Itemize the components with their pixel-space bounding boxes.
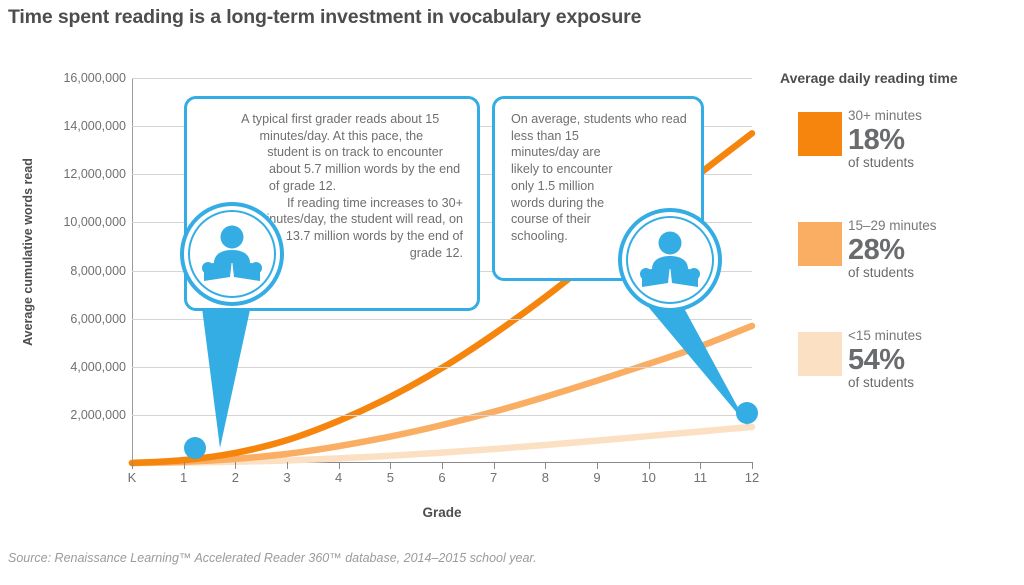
callout-icon-badge-1 [180,202,284,306]
x-axis-tick-label: 4 [319,470,359,485]
legend-title: Average daily reading time [780,70,1020,86]
legend-item-percent: 54% [848,345,1020,375]
legend-item-sublabel: of students [848,375,1020,391]
reading-person-icon [200,225,264,283]
y-axis-tick-label: 16,000,000 [30,71,126,85]
y-axis-tick-label: 2,000,000 [30,408,126,422]
y-axis-tick-label: 8,000,000 [30,264,126,278]
y-axis-tick-label: 4,000,000 [30,360,126,374]
x-axis-tick [494,462,495,469]
legend-item[interactable]: 15–29 minutes28%of students [780,218,1020,328]
data-marker-grade-1 [184,437,206,459]
x-axis-tick-label: 3 [267,470,307,485]
page-title: Time spent reading is a long-term invest… [8,6,888,29]
x-axis-tick [752,462,753,469]
legend-color-swatch [798,222,842,266]
legend-items: 30+ minutes18%of students15–29 minutes28… [780,108,1020,438]
x-axis-tick [184,462,185,469]
x-axis-tick-label: 12 [732,470,772,485]
x-axis-tick-label: 9 [577,470,617,485]
x-axis-tick-label: 6 [422,470,462,485]
x-axis-title: Grade [292,505,592,520]
x-axis-tick [339,462,340,469]
legend-color-swatch [798,332,842,376]
y-axis-title: Average cumulative words read [21,102,35,402]
x-axis-tick [132,462,133,469]
x-axis-tick-label: 1 [164,470,204,485]
x-axis-tick [287,462,288,469]
legend-text-group: 15–29 minutes28%of students [848,218,1020,282]
legend-item-sublabel: of students [848,265,1020,281]
y-axis-tick-label: 6,000,000 [30,312,126,326]
callout-icon-badge-2 [618,208,722,312]
legend-item-label: 30+ minutes [848,108,1020,125]
x-axis-tick [597,462,598,469]
legend-item[interactable]: 30+ minutes18%of students [780,108,1020,218]
x-axis-tick-label: K [112,470,152,485]
gridline [132,78,752,79]
legend-item[interactable]: <15 minutes54%of students [780,328,1020,438]
legend-item-percent: 28% [848,235,1020,265]
source-note: Source: Renaissance Learning™ Accelerate… [8,551,908,565]
legend-text-group: 30+ minutes18%of students [848,108,1020,172]
x-axis-tick [235,462,236,469]
legend-item-label: 15–29 minutes [848,218,1020,235]
legend: Average daily reading time 30+ minutes18… [780,70,1020,438]
x-axis-tick-label: 2 [215,470,255,485]
y-axis-tick-label: 14,000,000 [30,119,126,133]
reading-person-icon [638,231,702,289]
x-axis-tick [545,462,546,469]
legend-item-sublabel: of students [848,155,1020,171]
y-axis-tick-label: 10,000,000 [30,215,126,229]
x-axis-tick [649,462,650,469]
x-axis-tick-label: 7 [474,470,514,485]
x-axis-tick-label: 8 [525,470,565,485]
y-axis-tick-labels: 2,000,0004,000,0006,000,0008,000,00010,0… [26,78,126,463]
y-axis-tick-label: 12,000,000 [30,167,126,181]
x-axis-tick-label: 5 [370,470,410,485]
legend-item-percent: 18% [848,125,1020,155]
data-marker-grade-12 [736,402,758,424]
legend-item-label: <15 minutes [848,328,1020,345]
x-axis-tick-label: 10 [629,470,669,485]
legend-text-group: <15 minutes54%of students [848,328,1020,392]
x-axis-tick [390,462,391,469]
x-axis-tick-label: 11 [680,470,720,485]
x-axis-tick [700,462,701,469]
x-axis-tick [442,462,443,469]
legend-color-swatch [798,112,842,156]
